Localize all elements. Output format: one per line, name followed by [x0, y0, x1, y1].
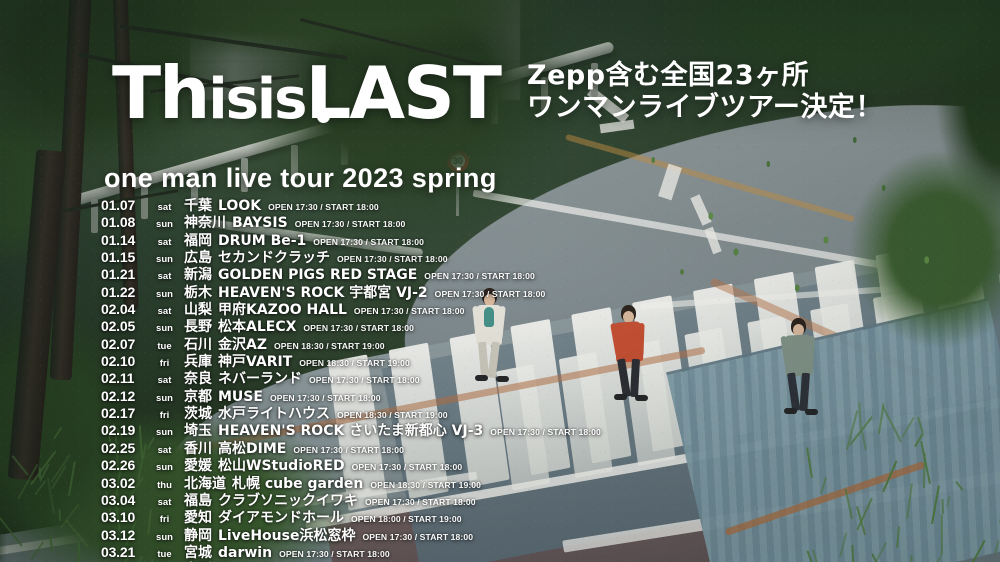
tour-weekday: sat: [150, 375, 179, 386]
tour-weekday: thu: [150, 480, 179, 491]
tour-weekday: sat: [150, 237, 179, 248]
tour-time: OPEN 18:30 / START 19:00: [370, 480, 481, 490]
tour-weekday: sun: [150, 323, 179, 334]
tour-weekday: sun: [150, 462, 179, 473]
tour-date-row: 02.04sat山梨甲府KAZOO HALLOPEN 17:30 / START…: [101, 299, 901, 316]
tour-date: 01.15: [101, 249, 150, 265]
tour-time: OPEN 17:30 / START 18:00: [337, 254, 448, 264]
tour-time: OPEN 17:30 / START 18:00: [424, 271, 535, 281]
tour-date-row: 03.10fri愛知ダイアモンドホールOPEN 18:00 / START 19…: [101, 507, 901, 524]
tour-date: 03.04: [101, 492, 150, 508]
tour-time: OPEN 17:30 / START 18:00: [490, 427, 601, 437]
tour-date: 02.19: [101, 422, 150, 438]
headline-line-2: ワンマンライブツアー決定！: [527, 92, 883, 124]
tour-date: 02.12: [101, 388, 150, 404]
tour-date-list: 01.07sat千葉LOOKOPEN 17:30 / START 18:0001…: [101, 195, 901, 562]
tour-time: OPEN 17:30 / START 18:00: [362, 532, 473, 542]
tour-weekday: fri: [150, 358, 179, 369]
tour-date: 02.05: [101, 318, 150, 334]
tour-time: OPEN 17:30 / START 18:00: [295, 219, 406, 229]
tour-venue: LiveHouse浜松窓枠: [218, 525, 355, 545]
tour-date-row: 03.02thu北海道札幌 cube gardenOPEN 18:30 / ST…: [101, 473, 901, 490]
tour-date: 01.14: [101, 232, 150, 248]
tour-venue: ネバーランド: [218, 368, 302, 388]
tour-date: 02.04: [101, 301, 150, 317]
headline-line-1: Zepp含む全国23ヶ所: [527, 60, 883, 92]
tour-weekday: sun: [150, 254, 179, 265]
tour-date: 01.08: [101, 214, 150, 230]
tour-date-row: 02.26sun愛媛松山WStudioREDOPEN 17:30 / START…: [101, 455, 901, 472]
tour-time: OPEN 18:30 / START 19:00: [274, 341, 385, 351]
tour-date: 01.07: [101, 197, 150, 213]
tour-time: OPEN 17:30 / START 18:00: [309, 375, 420, 385]
tour-date: 02.07: [101, 336, 150, 352]
logo-is: isis: [208, 67, 305, 132]
tour-date-row: 02.17fri茨城水戸ライトハウスOPEN 18:30 / START 19:…: [101, 403, 901, 420]
tour-date: 02.17: [101, 405, 150, 421]
tour-date: 02.11: [101, 370, 150, 386]
tour-weekday: sat: [150, 445, 179, 456]
tour-time: OPEN 17:30 / START 18:00: [435, 289, 546, 299]
tour-date: 03.10: [101, 509, 150, 525]
logo-last: LAST: [305, 57, 500, 129]
logo-this: Th: [112, 51, 208, 135]
tour-date-row: 01.07sat千葉LOOKOPEN 17:30 / START 18:00: [101, 195, 901, 212]
tour-weekday: fri: [150, 514, 179, 525]
tour-weekday: sun: [150, 393, 179, 404]
tour-date-row: 01.08sun神奈川BAYSISOPEN 17:30 / START 18:0…: [101, 212, 901, 229]
tour-weekday: sun: [150, 532, 179, 543]
tour-date-row: 03.12sun静岡LiveHouse浜松窓枠OPEN 17:30 / STAR…: [101, 525, 901, 542]
tour-date-row: 01.14sat福岡DRUM Be-1OPEN 17:30 / START 18…: [101, 230, 901, 247]
tour-date-row: 02.05sun長野松本ALECXOPEN 17:30 / START 18:0…: [101, 316, 901, 333]
tour-date: 01.22: [101, 284, 150, 300]
headline: Zepp含む全国23ヶ所 ワンマンライブツアー決定！: [527, 60, 883, 124]
tour-date: 01.21: [101, 266, 150, 282]
tour-time: OPEN 18:30 / START 19:00: [337, 410, 448, 420]
tour-weekday: fri: [150, 410, 179, 421]
tour-date-row: 02.12sun京都MUSEOPEN 17:30 / START 18:00: [101, 386, 901, 403]
tour-weekday: sat: [150, 271, 179, 282]
tour-weekday: sun: [150, 219, 179, 230]
tour-weekday: sat: [150, 202, 179, 213]
tour-venue: BAYSIS: [232, 215, 288, 231]
tour-weekday: sun: [150, 289, 179, 300]
tour-date-row: 02.19sun埼玉HEAVEN'S ROCK さいたま新都心 VJ-3OPEN…: [101, 420, 901, 437]
tour-date-row: 01.22sun栃木HEAVEN'S ROCK 宇都宮 VJ-2OPEN 17:…: [101, 282, 901, 299]
tour-date: 02.25: [101, 440, 150, 456]
tour-time: OPEN 17:30 / START 18:00: [313, 237, 424, 247]
tour-date-row: 03.04sat福島クラブソニックイワキOPEN 17:30 / START 1…: [101, 490, 901, 507]
artist-logo: ThisisLAST: [112, 57, 500, 129]
tour-time: OPEN 17:30 / START 18:00: [352, 462, 463, 472]
tour-time: OPEN 18:30 / START 19:00: [299, 358, 410, 368]
tour-date: 02.26: [101, 457, 150, 473]
tour-poster: 30 ThisisLAST Zepp含む全国23ヶ所 ワンマンライブツアー決定！…: [0, 0, 1000, 562]
tour-date-row: 03.21tue宮城darwinOPEN 17:30 / START 18:00: [101, 542, 901, 559]
tour-weekday: tue: [150, 341, 179, 352]
tour-weekday: tue: [150, 549, 179, 560]
tour-time: OPEN 17:30 / START 18:00: [279, 549, 390, 559]
tour-date: 03.12: [101, 527, 150, 543]
tour-title: one man live tour 2023 spring: [104, 163, 497, 194]
tour-time: OPEN 17:30 / START 18:00: [293, 445, 404, 455]
tour-weekday: sat: [150, 306, 179, 317]
tour-date-row: 01.15sun広島セカンドクラッチOPEN 17:30 / START 18:…: [101, 247, 901, 264]
tour-weekday: sun: [150, 427, 179, 438]
tour-date: 03.21: [101, 544, 150, 560]
tour-time: OPEN 17:30 / START 18:00: [268, 202, 379, 212]
tour-time: OPEN 17:30 / START 18:00: [354, 306, 465, 316]
tour-date: 03.02: [101, 475, 150, 491]
tour-time: OPEN 17:30 / START 18:00: [270, 393, 381, 403]
tour-date-row: 02.25sat香川高松DIMEOPEN 17:30 / START 18:00: [101, 438, 901, 455]
tour-date-row: 02.07tue石川金沢AZOPEN 18:30 / START 19:00: [101, 334, 901, 351]
tour-time: OPEN 17:30 / START 18:00: [303, 323, 414, 333]
tour-venue: darwin: [218, 545, 272, 561]
tour-date-row: 02.10fri兵庫神戸VARITOPEN 18:30 / START 19:0…: [101, 351, 901, 368]
tour-date: 02.10: [101, 353, 150, 369]
tour-venue: セカンドクラッチ: [218, 247, 330, 267]
tour-time: OPEN 17:30 / START 18:00: [365, 497, 476, 507]
tour-date-row: 01.21sat新潟GOLDEN PIGS RED STAGEOPEN 17:3…: [101, 264, 901, 281]
tour-date-row: 02.11sat奈良ネバーランドOPEN 17:30 / START 18:00: [101, 368, 901, 385]
tour-time: OPEN 18:00 / START 19:00: [351, 514, 462, 524]
tour-weekday: sat: [150, 497, 179, 508]
